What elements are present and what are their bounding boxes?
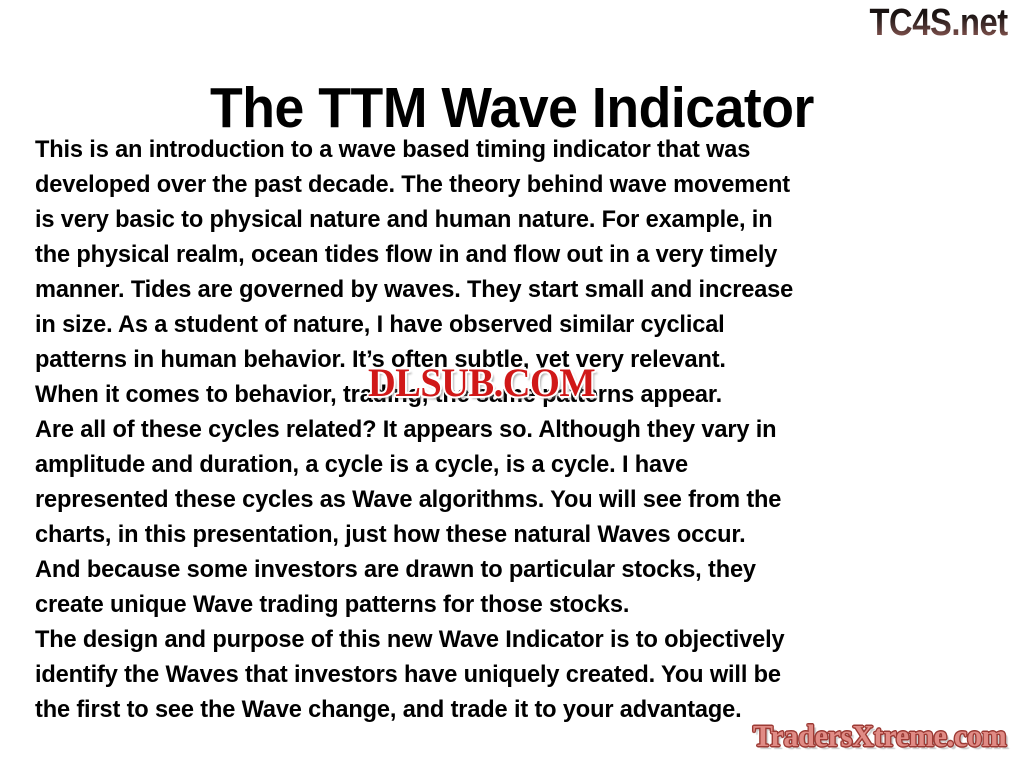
body-line: Are all of these cycles related? It appe…	[35, 413, 993, 448]
slide-body-text: This is an introduction to a wave based …	[35, 133, 993, 728]
body-paragraph-2: The design and purpose of this new Wave …	[35, 623, 993, 728]
body-line: in size. As a student of nature, I have …	[35, 308, 993, 343]
tc4s-brand-logo: TC4S.net	[870, 2, 1008, 44]
body-line: This is an introduction to a wave based …	[35, 133, 993, 168]
body-line: developed over the past decade. The theo…	[35, 168, 993, 203]
slide-title: The TTM Wave Indicator	[31, 76, 994, 140]
body-line: the physical realm, ocean tides flow in …	[35, 238, 993, 273]
body-line: is very basic to physical nature and hum…	[35, 203, 993, 238]
body-line: identify the Waves that investors have u…	[35, 658, 993, 693]
body-line: The design and purpose of this new Wave …	[35, 623, 993, 658]
body-line: charts, in this presentation, just how t…	[35, 518, 993, 553]
dlsub-watermark: DLSUB.COM	[368, 361, 595, 405]
body-line: And because some investors are drawn to …	[35, 553, 993, 588]
slide-canvas: { "slide": { "title": "The TTM Wave Indi…	[0, 0, 1024, 768]
body-line: amplitude and duration, a cycle is a cyc…	[35, 448, 993, 483]
body-line: manner. Tides are governed by waves. The…	[35, 273, 993, 308]
tradersxtreme-brand-logo: TradersXtreme.com	[752, 718, 1006, 754]
body-line: create unique Wave trading patterns for …	[35, 588, 993, 623]
body-line: represented these cycles as Wave algorit…	[35, 483, 993, 518]
